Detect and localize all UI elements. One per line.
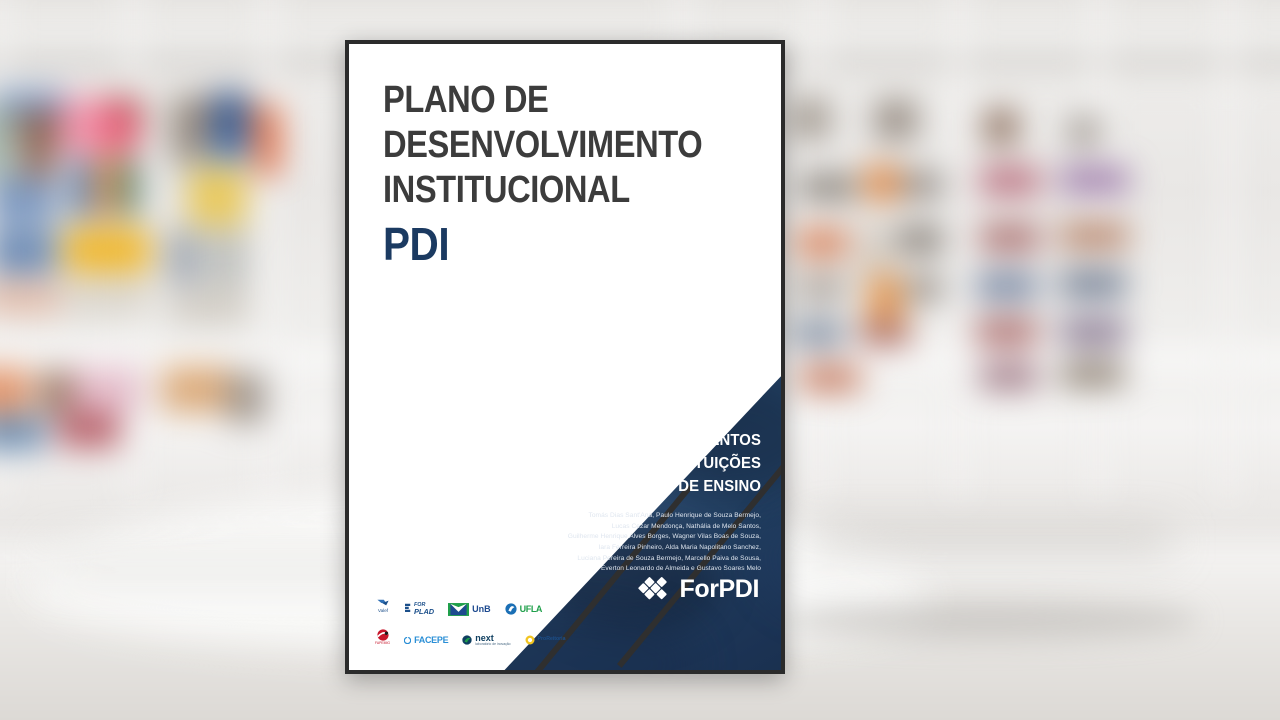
unb-label: UnB <box>472 605 491 614</box>
author-line: Lucas Cezar Mendonça, Nathália de Melo S… <box>451 522 761 533</box>
unb-mark-icon <box>448 603 469 616</box>
facepe-mark-icon <box>404 637 411 644</box>
fapemig-label: FAPEMIG <box>375 642 390 645</box>
next-leaf-icon <box>462 635 472 645</box>
author-line: Tomás Dias Sant'Ana, Paulo Henrique de S… <box>451 511 761 522</box>
author-line: Iara Ferreira Pinheiro, Alda Maria Napol… <box>451 543 761 554</box>
logo-fapemig: FAPEMIG <box>375 629 390 651</box>
next-sublabel: laboratório de inovação <box>475 643 510 646</box>
diamond-grid-icon <box>638 572 672 606</box>
title-line-1: PLANO DE <box>383 78 675 123</box>
valef-label: Valef <box>378 609 388 614</box>
partner-logos-row-1: Valef FOR PLAD <box>375 596 615 622</box>
forpdi-wordmark: ForPDI <box>679 575 759 604</box>
forplad-bars-icon <box>405 603 411 615</box>
subtitle-line-2: PARA AS INSTITUIÇÕES <box>454 452 761 475</box>
book-cover-artwork: PLANO DE DESENVOLVIMENTO INSTITUCIONAL P… <box>349 44 781 670</box>
logo-proreitoria: ProReitoria <box>525 629 566 651</box>
ufla-swirl-icon <box>505 603 517 615</box>
fapemig-icon <box>376 629 390 641</box>
subtitle-line-3: FEDERAIS DE ENSINO <box>454 475 761 498</box>
book-cover: PLANO DE DESENVOLVIMENTO INSTITUCIONAL P… <box>345 40 785 674</box>
author-line: Luciana Pereira de Souza Bermejo, Marcel… <box>451 554 761 565</box>
cover-title-block: PLANO DE DESENVOLVIMENTO INSTITUCIONAL P… <box>383 78 723 271</box>
screenshot-canvas: PLANO DE DESENVOLVIMENTO INSTITUCIONAL P… <box>0 0 1280 720</box>
title-acronym: PDI <box>383 218 682 271</box>
forpdi-logo: ForPDI <box>638 572 759 606</box>
logo-forplad: FOR PLAD <box>405 598 434 620</box>
forplad-label-bottom: PLAD <box>414 608 434 615</box>
facepe-label: FACEPE <box>414 636 448 645</box>
title-line-2: DESENVOLVIMENTO <box>383 123 675 168</box>
partner-logos-row-2: FAPEMIG FACEPE <box>375 627 615 653</box>
subtitle-line-1: UM GUIA DE CONHECIMENTOS <box>454 429 761 452</box>
logo-facepe: FACEPE <box>404 629 448 651</box>
partner-logos: Valef FOR PLAD <box>375 596 615 658</box>
ufla-label: UFLA <box>520 605 542 614</box>
title-line-3: INSTITUCIONAL <box>383 168 675 213</box>
cover-authors-block: Tomás Dias Sant'Ana, Paulo Henrique de S… <box>451 511 761 575</box>
valef-icon <box>375 598 391 608</box>
author-line: Guilherme Henrique Alves Borges, Wagner … <box>451 532 761 543</box>
proreitoria-sun-icon <box>525 635 535 645</box>
logo-valef: Valef <box>375 598 391 620</box>
logo-ufla: UFLA <box>505 598 542 620</box>
cover-subtitle-block: UM GUIA DE CONHECIMENTOS PARA AS INSTITU… <box>431 429 761 499</box>
logo-unb: UnB <box>448 598 491 620</box>
logo-next: next laboratório de inovação <box>462 629 510 651</box>
proreitoria-label: ProReitoria <box>538 637 566 642</box>
